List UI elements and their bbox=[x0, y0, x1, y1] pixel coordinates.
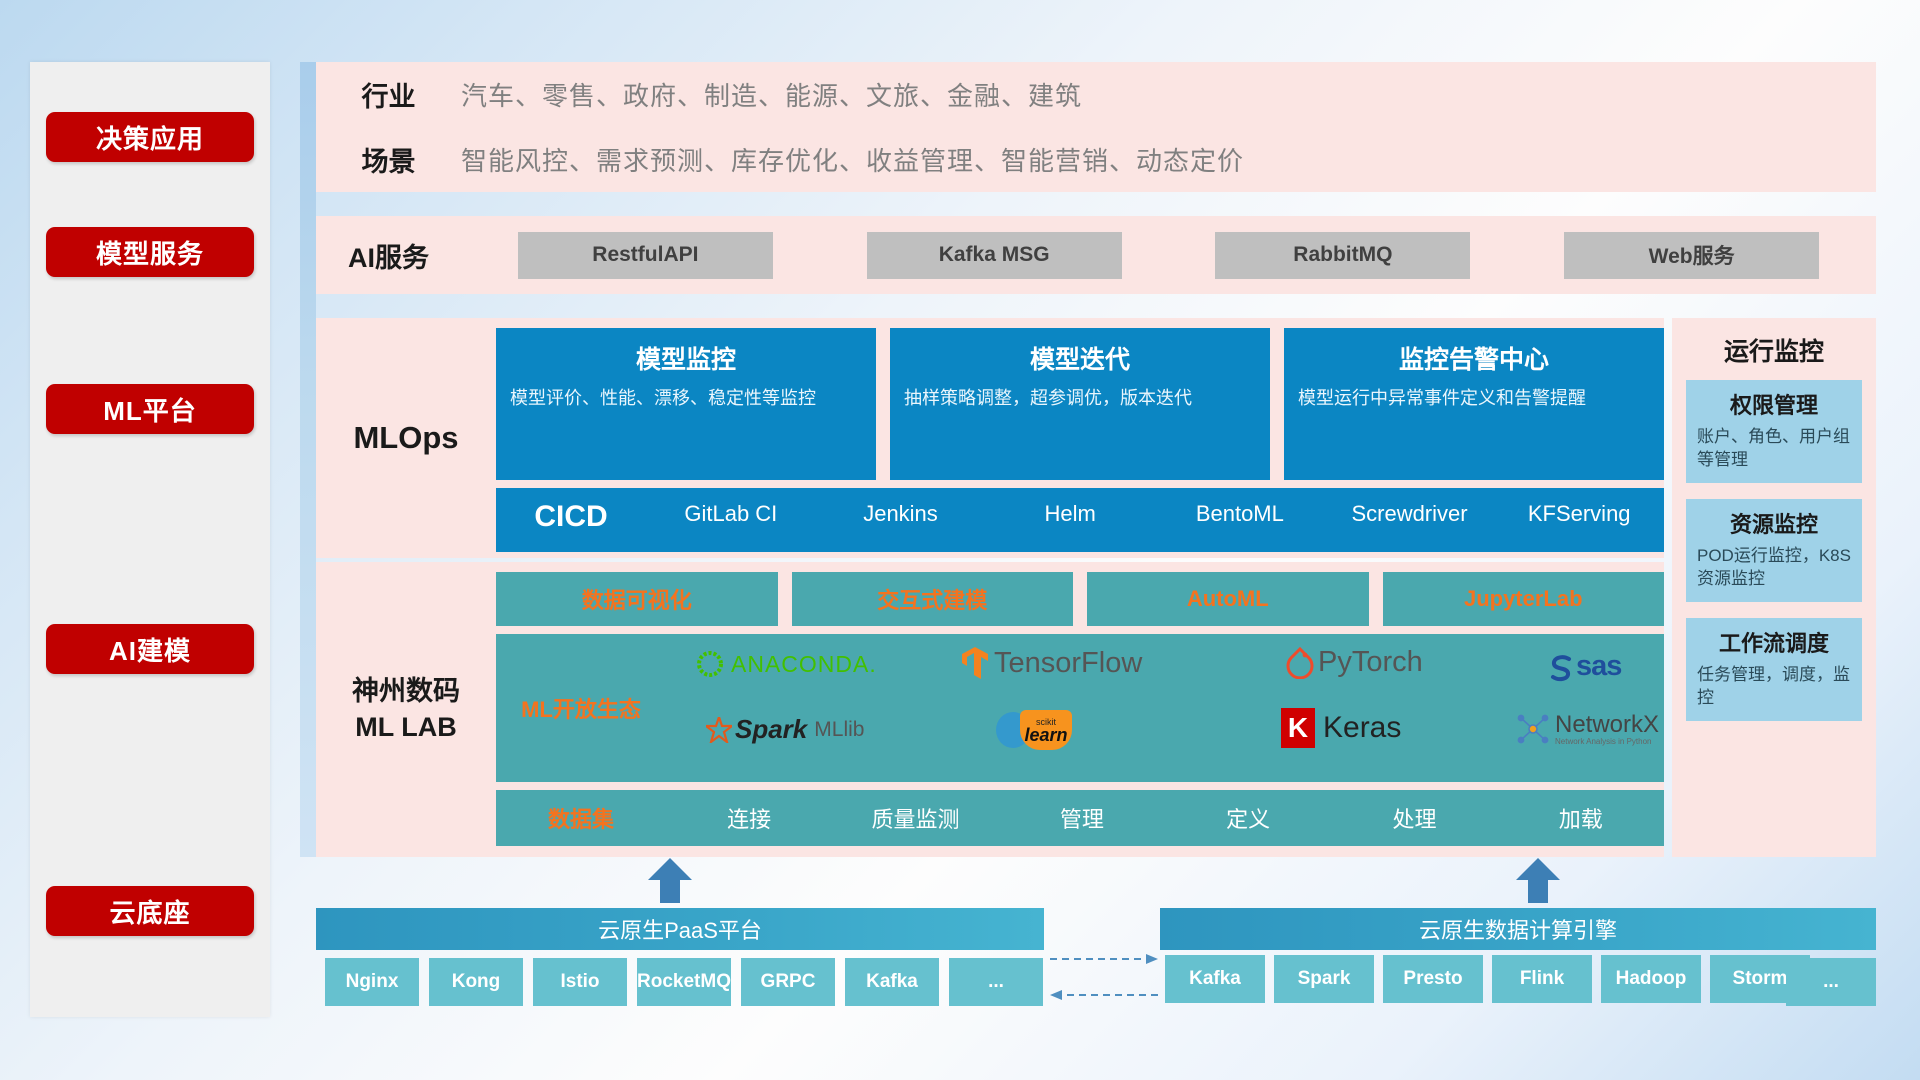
networkx-logo-text: NetworkX bbox=[1555, 713, 1659, 737]
ml-lab-label-line1: 神州数码 bbox=[352, 674, 460, 709]
cloud-chip-hadoop[interactable]: Hadoop bbox=[1601, 955, 1701, 1003]
arrow-up-left bbox=[640, 858, 700, 903]
keras-k-icon: K bbox=[1281, 708, 1315, 748]
cloud-paas-bar[interactable]: 云原生PaaS平台 bbox=[316, 908, 1044, 950]
pytorch-flame-icon bbox=[1286, 647, 1314, 679]
tool-chip-data-visualization[interactable]: 数据可视化 bbox=[496, 572, 778, 626]
dashed-arrow-connector bbox=[1046, 945, 1161, 1015]
networkx-logo: NetworkX Network Analysis in Python bbox=[1516, 712, 1659, 746]
industry-row: 行业 汽车、零售、政府、制造、能源、文旅、金融、建筑 bbox=[316, 62, 1876, 127]
dataset-item-process[interactable]: 处理 bbox=[1331, 802, 1497, 834]
ml-ecosystem-band: ML开放生态 ANACONDA . bbox=[496, 634, 1664, 782]
cloud-chip-kafka-left[interactable]: Kafka bbox=[845, 958, 939, 1006]
cloud-data-engine-bar[interactable]: 云原生数据计算引擎 bbox=[1160, 908, 1876, 950]
ml-lab-stack: 数据可视化 交互式建模 AutoML JupyterLab ML开放生态 ANA… bbox=[496, 572, 1664, 846]
monitor-card-desc: 任务管理，调度，监控 bbox=[1697, 664, 1851, 710]
cloud-chip-nginx[interactable]: Nginx bbox=[325, 958, 419, 1006]
monitor-card-title: 权限管理 bbox=[1697, 388, 1851, 420]
rail-tag-model-service[interactable]: 模型服务 bbox=[46, 227, 254, 277]
pytorch-logo-text: PyTorch bbox=[1318, 646, 1423, 679]
runtime-monitor-title: 运行监控 bbox=[1672, 318, 1876, 380]
monitor-card-workflow[interactable]: 工作流调度 任务管理，调度，监控 bbox=[1686, 618, 1862, 721]
ai-service-chip-kafka-msg[interactable]: Kafka MSG bbox=[867, 232, 1122, 279]
cloud-paas-bar-label: 云原生PaaS平台 bbox=[598, 913, 762, 945]
pytorch-logo: PyTorch bbox=[1286, 646, 1423, 679]
cicd-item-screwdriver[interactable]: Screwdriver bbox=[1325, 488, 1495, 526]
cloud-chip-spark[interactable]: Spark bbox=[1274, 955, 1374, 1003]
cloud-chip-rocketmq[interactable]: RocketMQ bbox=[637, 958, 731, 1006]
cicd-item-kfserving[interactable]: KFServing bbox=[1494, 488, 1664, 526]
dataset-band: 数据集 连接 质量监测 管理 定义 处理 加载 bbox=[496, 790, 1664, 846]
cloud-chip-kafka-right[interactable]: Kafka bbox=[1165, 955, 1265, 1003]
cloud-chip-presto[interactable]: Presto bbox=[1383, 955, 1483, 1003]
tool-chip-automl[interactable]: AutoML bbox=[1087, 572, 1369, 626]
tool-chip-jupyterlab[interactable]: JupyterLab bbox=[1383, 572, 1665, 626]
cicd-item-helm[interactable]: Helm bbox=[985, 488, 1155, 526]
ai-service-chip-list: RestfulAPI Kafka MSG RabbitMQ Web服务 bbox=[461, 232, 1876, 279]
cloud-chip-flink[interactable]: Flink bbox=[1492, 955, 1592, 1003]
ml-lab-label-line2: ML LAB bbox=[355, 710, 457, 745]
ml-lab-label: 神州数码 ML LAB bbox=[316, 562, 496, 857]
rail-tag-ai-modeling[interactable]: AI建模 bbox=[46, 624, 254, 674]
cicd-item-gitlab-ci[interactable]: GitLab CI bbox=[646, 488, 816, 526]
scenario-key: 场景 bbox=[316, 140, 461, 179]
sas-swirl-icon bbox=[1546, 652, 1576, 682]
dataset-item-quality-monitor[interactable]: 质量监测 bbox=[832, 802, 998, 834]
sas-logo: sas bbox=[1546, 650, 1621, 683]
rail-tag-ml-platform[interactable]: ML平台 bbox=[46, 384, 254, 434]
cicd-bar: CICD GitLab CI Jenkins Helm BentoML Scre… bbox=[496, 488, 1664, 552]
scikit-orange-blob-icon: scikit learn bbox=[1020, 710, 1072, 750]
ml-lab-tool-chip-list: 数据可视化 交互式建模 AutoML JupyterLab bbox=[496, 572, 1664, 626]
monitor-card-desc: POD运行监控，K8S资源监控 bbox=[1697, 545, 1851, 591]
ai-service-chip-restfulapi[interactable]: RestfulAPI bbox=[518, 232, 773, 279]
keras-logo: K Keras bbox=[1281, 708, 1401, 748]
mlops-card-title: 监控告警中心 bbox=[1298, 340, 1650, 376]
ai-service-band: AI服务 RestfulAPI Kafka MSG RabbitMQ Web服务 bbox=[316, 216, 1876, 294]
anaconda-logo-text: ANACONDA bbox=[731, 651, 869, 678]
industry-scenario-band: 行业 汽车、零售、政府、制造、能源、文旅、金融、建筑 场景 智能风控、需求预测、… bbox=[316, 62, 1876, 192]
mlops-band: MLOps 模型监控 模型评价、性能、漂移、稳定性等监控 模型迭代 抽样策略调整… bbox=[316, 318, 1664, 558]
cicd-item-bentoml[interactable]: BentoML bbox=[1155, 488, 1325, 526]
keras-logo-text: Keras bbox=[1323, 711, 1401, 745]
arrow-up-right bbox=[1508, 858, 1568, 903]
tool-chip-interactive-modeling[interactable]: 交互式建模 bbox=[792, 572, 1074, 626]
cloud-chip-more-right[interactable]: ... bbox=[1786, 958, 1876, 1006]
monitor-card-desc: 账户、角色、用户组等管理 bbox=[1697, 426, 1851, 472]
sas-logo-text: sas bbox=[1576, 650, 1621, 683]
networkx-graph-icon bbox=[1516, 712, 1550, 746]
industry-value: 汽车、零售、政府、制造、能源、文旅、金融、建筑 bbox=[461, 76, 1082, 113]
dataset-item-load[interactable]: 加载 bbox=[1498, 802, 1664, 834]
tensorflow-logo: TensorFlow bbox=[961, 646, 1142, 680]
mlops-card-desc: 抽样策略调整，超参调优，版本迭代 bbox=[904, 386, 1256, 411]
tensorflow-icon bbox=[961, 646, 989, 680]
cloud-chip-istio[interactable]: Istio bbox=[533, 958, 627, 1006]
cicd-item-jenkins[interactable]: Jenkins bbox=[816, 488, 986, 526]
mlops-card-desc: 模型运行中异常事件定义和告警提醒 bbox=[1298, 386, 1650, 411]
cloud-data-engine-bar-label: 云原生数据计算引擎 bbox=[1419, 913, 1617, 945]
layer-label-rail: 决策应用 模型服务 ML平台 AI建模 云底座 bbox=[30, 62, 270, 1017]
spark-mllib-logo: Spark MLlib bbox=[706, 714, 864, 745]
architecture-diagram: 决策应用 模型服务 ML平台 AI建模 云底座 行业 汽车、零售、政府、制造、能… bbox=[0, 0, 1920, 1080]
dataset-item-define[interactable]: 定义 bbox=[1165, 802, 1331, 834]
scenario-value: 智能风控、需求预测、库存优化、收益管理、智能营销、动态定价 bbox=[461, 141, 1244, 178]
monitor-card-permission[interactable]: 权限管理 账户、角色、用户组等管理 bbox=[1686, 380, 1862, 483]
mlops-card-title: 模型迭代 bbox=[904, 340, 1256, 376]
mlops-label: MLOps bbox=[316, 318, 496, 558]
mlops-card-title: 模型监控 bbox=[510, 340, 862, 376]
cloud-chip-more-left[interactable]: ... bbox=[949, 958, 1043, 1006]
anaconda-ring-icon bbox=[694, 648, 726, 680]
monitor-card-title: 工作流调度 bbox=[1697, 626, 1851, 658]
monitor-card-title: 资源监控 bbox=[1697, 507, 1851, 539]
ml-lab-band: 神州数码 ML LAB 数据可视化 交互式建模 AutoML JupyterLa… bbox=[316, 562, 1664, 857]
ml-ecosystem-logo-list: ANACONDA . TensorFlow bbox=[666, 634, 1664, 782]
vertical-blue-strip bbox=[300, 62, 316, 857]
mlops-card-list: 模型监控 模型评价、性能、漂移、稳定性等监控 模型迭代 抽样策略调整，超参调优，… bbox=[496, 328, 1664, 480]
tensorflow-logo-text: TensorFlow bbox=[994, 647, 1142, 680]
cicd-title: CICD bbox=[496, 488, 646, 534]
ai-service-chip-web[interactable]: Web服务 bbox=[1564, 232, 1819, 279]
spark-star-icon bbox=[706, 717, 732, 743]
monitor-card-resource[interactable]: 资源监控 POD运行监控，K8S资源监控 bbox=[1686, 499, 1862, 602]
anaconda-logo: ANACONDA . bbox=[694, 648, 876, 680]
mlops-card-model-monitoring[interactable]: 模型监控 模型评价、性能、漂移、稳定性等监控 bbox=[496, 328, 876, 480]
rail-tag-decision[interactable]: 决策应用 bbox=[46, 112, 254, 162]
ai-service-chip-rabbitmq[interactable]: RabbitMQ bbox=[1215, 232, 1470, 279]
runtime-monitor-column: 运行监控 权限管理 账户、角色、用户组等管理 资源监控 POD运行监控，K8S资… bbox=[1672, 318, 1876, 857]
scikit-learn-logo: scikit learn bbox=[996, 710, 1072, 750]
ml-ecosystem-label: ML开放生态 bbox=[496, 692, 666, 724]
dataset-item-manage[interactable]: 管理 bbox=[999, 802, 1165, 834]
ai-service-label: AI服务 bbox=[316, 236, 461, 275]
rail-tag-cloud-base[interactable]: 云底座 bbox=[46, 886, 254, 936]
industry-key: 行业 bbox=[316, 75, 461, 114]
cloud-chip-grpc[interactable]: GRPC bbox=[741, 958, 835, 1006]
scenario-row: 场景 智能风控、需求预测、库存优化、收益管理、智能营销、动态定价 bbox=[316, 127, 1876, 192]
dataset-item-connect[interactable]: 连接 bbox=[666, 802, 832, 834]
dataset-label: 数据集 bbox=[496, 802, 666, 834]
mlops-card-alert-center[interactable]: 监控告警中心 模型运行中异常事件定义和告警提醒 bbox=[1284, 328, 1664, 480]
mlops-card-desc: 模型评价、性能、漂移、稳定性等监控 bbox=[510, 386, 862, 411]
cloud-chip-kong[interactable]: Kong bbox=[429, 958, 523, 1006]
mlops-card-model-iteration[interactable]: 模型迭代 抽样策略调整，超参调优，版本迭代 bbox=[890, 328, 1270, 480]
